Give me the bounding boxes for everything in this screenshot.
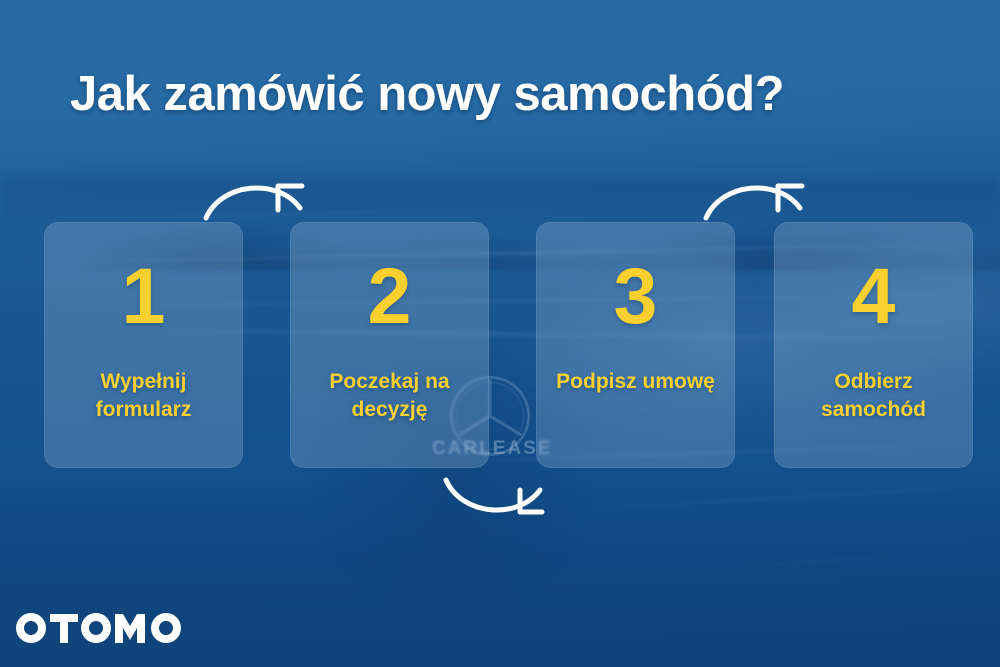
step-number: 4 xyxy=(852,256,896,335)
step-card-3[interactable]: 3 Podpisz umowę xyxy=(536,222,735,468)
otomoto-logo-icon xyxy=(14,611,186,645)
step-number: 1 xyxy=(122,256,166,335)
step-number: 3 xyxy=(614,256,658,335)
arrow-step1-to-step2-icon xyxy=(200,172,318,233)
step-label: Wypełnij formularz xyxy=(44,368,243,424)
step-card-1[interactable]: 1 Wypełnij formularz xyxy=(44,222,243,468)
step-number: 2 xyxy=(368,256,412,335)
infographic-banner: CARLEASE Jak zamówić nowy samochód? 1 Wy… xyxy=(0,0,1000,667)
steps-container: 1 Wypełnij formularz 2 Poczekaj na decyz… xyxy=(0,0,1000,667)
arrow-step2-to-step3-icon xyxy=(440,470,558,531)
step-label: Podpisz umowę xyxy=(548,368,723,396)
arrow-step3-to-step4-icon xyxy=(700,172,818,233)
step-label: Odbierz samochód xyxy=(774,368,973,424)
otomoto-logo[interactable] xyxy=(14,611,186,645)
step-card-4[interactable]: 4 Odbierz samochód xyxy=(774,222,973,468)
step-label: Poczekaj na decyzję xyxy=(290,368,489,424)
step-card-2[interactable]: 2 Poczekaj na decyzję xyxy=(290,222,489,468)
